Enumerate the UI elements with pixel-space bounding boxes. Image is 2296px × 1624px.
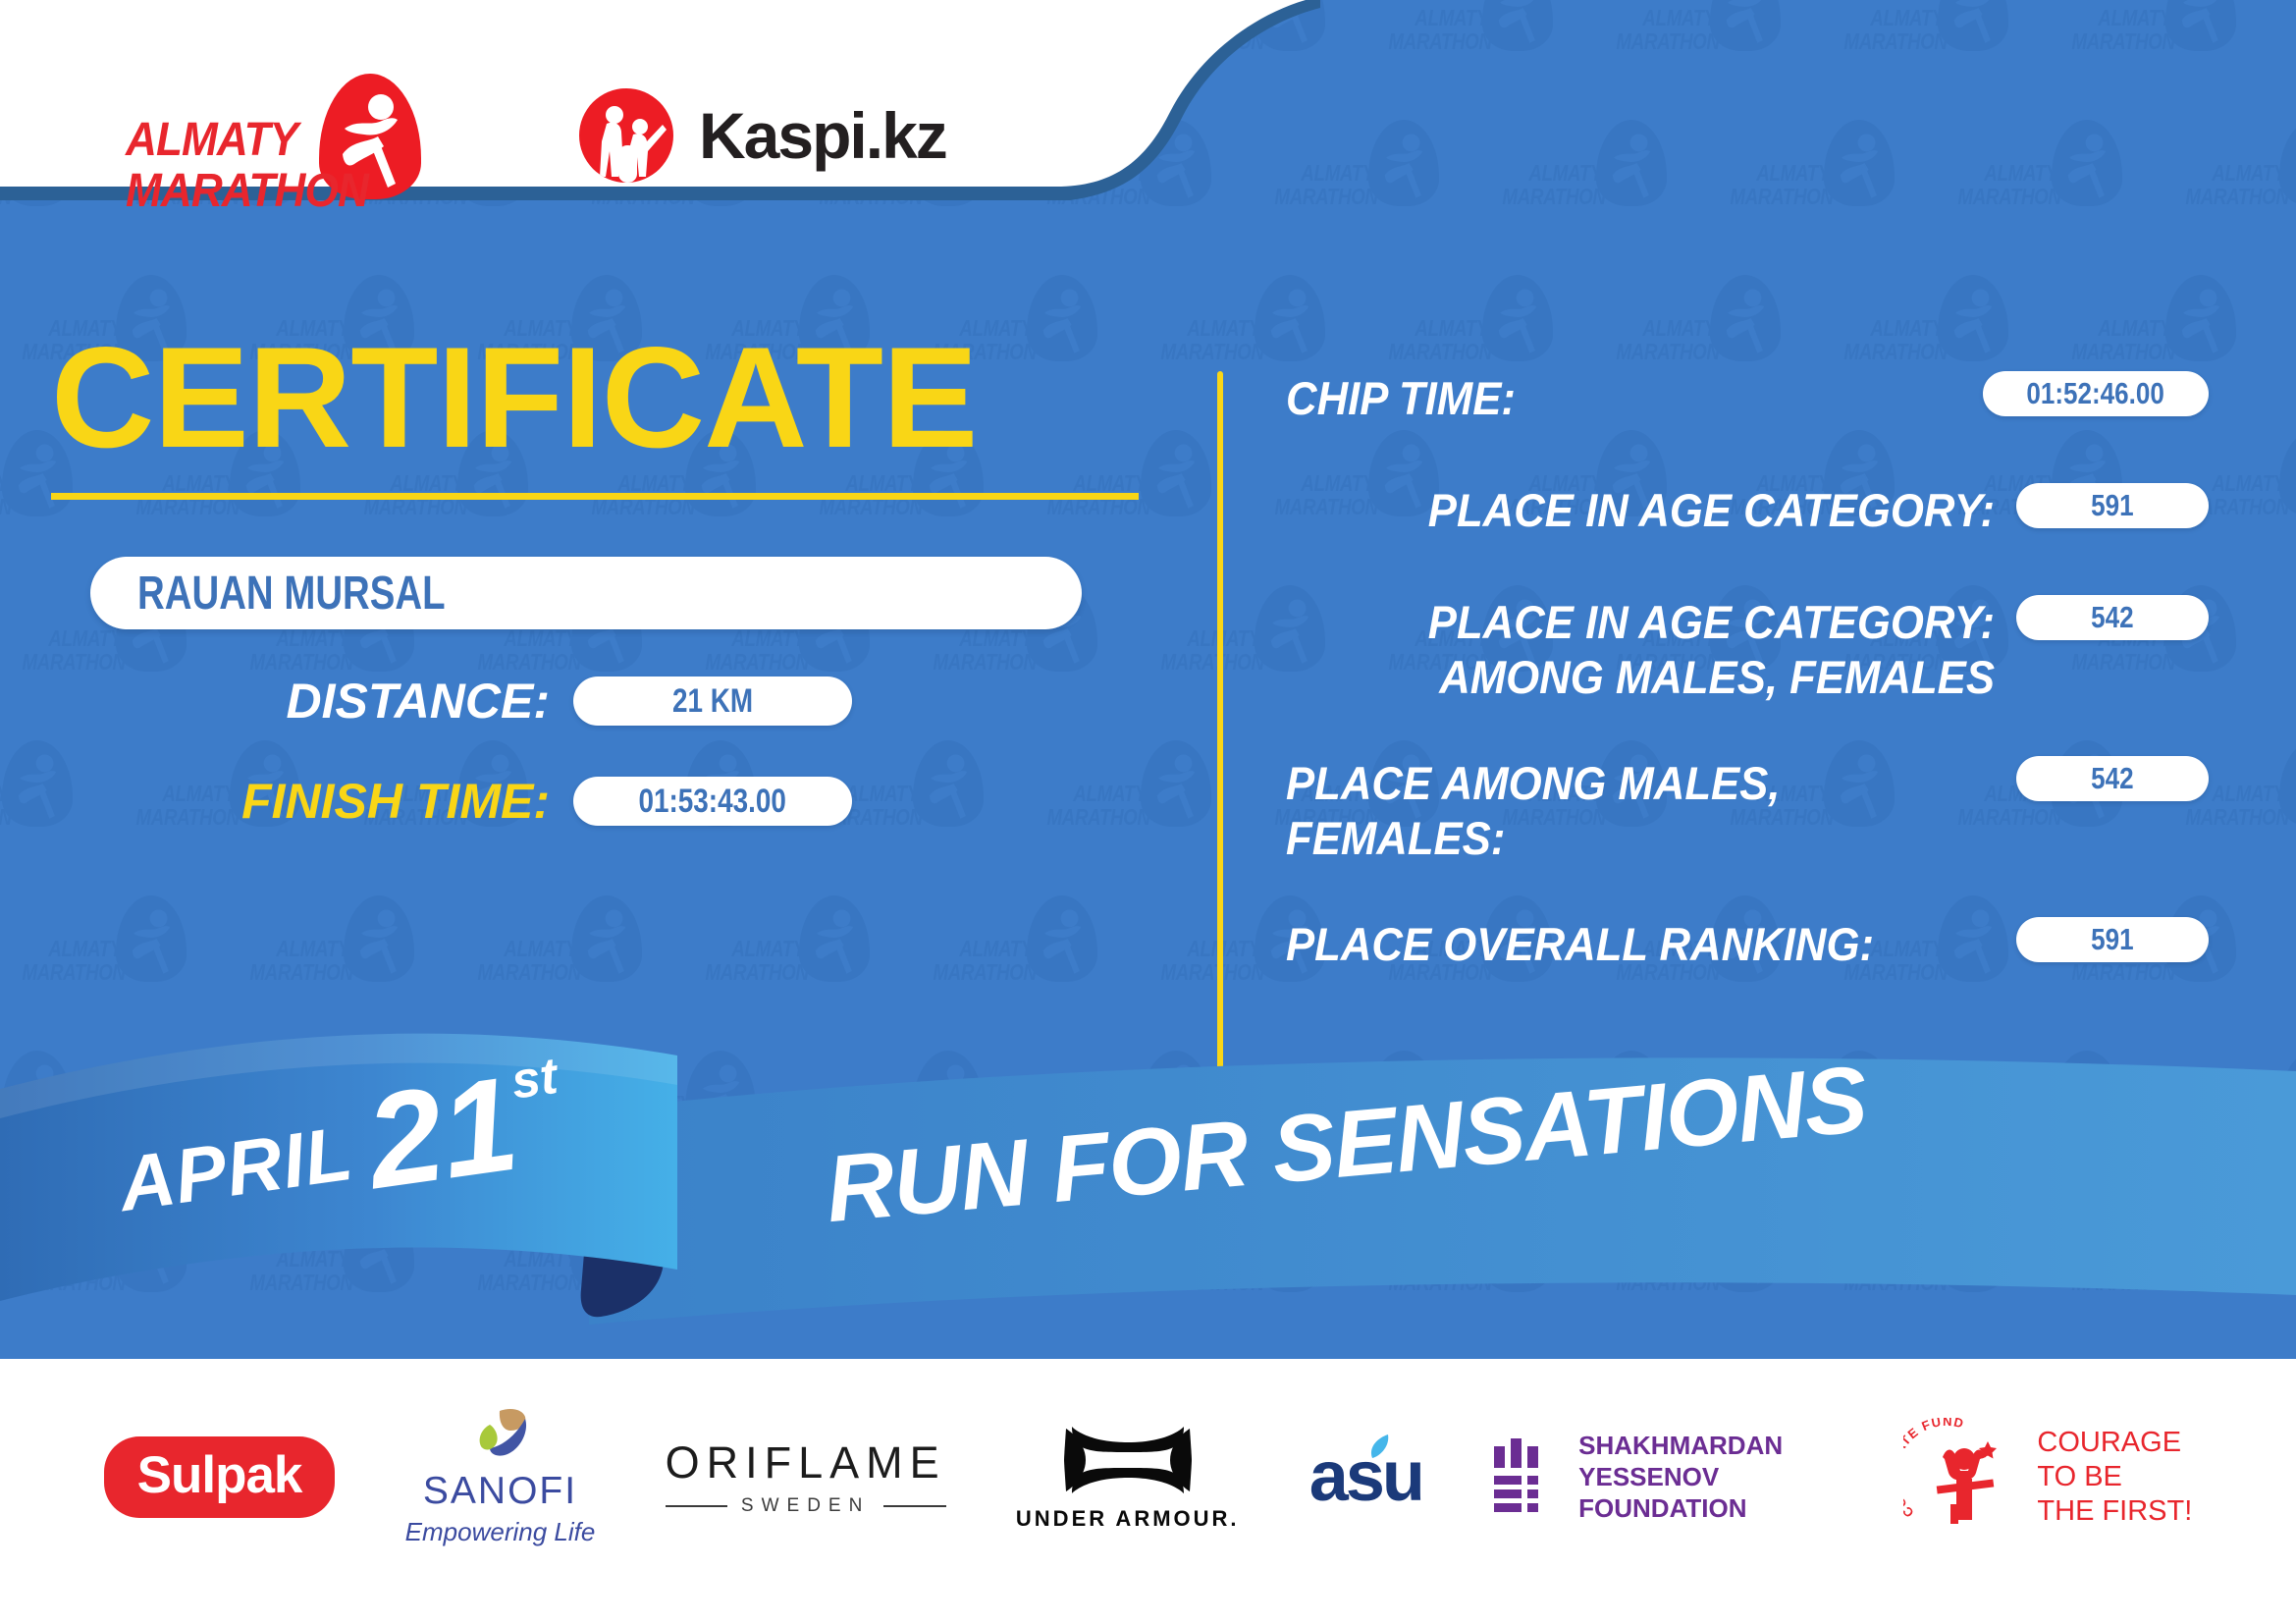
- watermark-text: ALMATYMARATHON: [2071, 1247, 2171, 1294]
- finish-time-row: FINISH TIME: 01:53:43.00: [0, 773, 1158, 830]
- sponsor-sulpak: Sulpak: [104, 1436, 336, 1518]
- watermark-tile: ALMATYMARATHON: [2050, 0, 2266, 108]
- watermark-droplet-icon: [1596, 1051, 1667, 1137]
- watermark-droplet-icon: [1824, 120, 1895, 206]
- watermark-droplet-icon: [571, 895, 642, 982]
- watermark-runner-icon: [1824, 1051, 1895, 1137]
- event-date: APRIL 21 st: [109, 1047, 570, 1237]
- watermark-line-2: MARATHON: [1730, 1115, 1830, 1139]
- watermark-tile: ALMATYMARATHON: [1253, 1047, 1468, 1194]
- watermark-line-2: MARATHON: [1730, 185, 1830, 208]
- watermark-runner-icon: [1482, 275, 1553, 361]
- result-value: 591: [2091, 922, 2133, 957]
- watermark-runner-icon: [1710, 1206, 1781, 1292]
- watermark-line-1: ALMATY: [933, 937, 1033, 960]
- watermark-text: ALMATYMARATHON: [2185, 1092, 2285, 1139]
- watermark-line-1: ALMATY: [1730, 1092, 1830, 1115]
- watermark-droplet-icon: [1027, 895, 1097, 982]
- watermark-runner-icon: [1368, 1051, 1439, 1137]
- watermark-line-2: MARATHON: [249, 960, 349, 984]
- watermark-line-2: MARATHON: [705, 960, 805, 984]
- shakhmardan-line-2: FOUNDATION: [1578, 1492, 1834, 1524]
- watermark-runner-icon: [2279, 740, 2296, 827]
- watermark-text: ALMATYMARATHON: [1388, 6, 1488, 53]
- watermark-line-1: ALMATY: [1046, 1092, 1147, 1115]
- almaty-line: ALMATY: [126, 115, 368, 166]
- watermark-droplet-icon: [2279, 430, 2296, 516]
- watermark-tile: ALMATYMARATHON: [0, 892, 216, 1039]
- watermark-tile: ALMATYMARATHON: [1708, 1047, 1924, 1194]
- watermark-line-1: ALMATY: [1843, 1247, 1944, 1271]
- courage-line-1: COURAGE: [2037, 1426, 2192, 1460]
- watermark-text: ALMATYMARATHON: [1843, 1247, 1944, 1294]
- watermark-line-1: ALMATY: [591, 1092, 691, 1115]
- watermark-runner-icon: [571, 895, 642, 982]
- watermark-line-1: ALMATY: [933, 1247, 1033, 1271]
- watermark-droplet-icon: [1368, 1051, 1439, 1137]
- result-label: PLACE IN AGE CATEGORY: AMONG MALES, FEMA…: [1336, 595, 1995, 705]
- watermark-droplet-icon: [1027, 1206, 1097, 1292]
- watermark-text: ALMATYMARATHON: [1730, 1092, 1830, 1139]
- result-value: 542: [2091, 761, 2133, 796]
- watermark-line-1: ALMATY: [2071, 1247, 2171, 1271]
- athlete-name-field: RAUAN MURSAL: [90, 557, 1082, 629]
- watermark-runner-icon: [1596, 1051, 1667, 1137]
- watermark-tile: ALMATYMARATHON: [1936, 116, 2152, 263]
- watermark-runner-icon: [913, 1051, 984, 1137]
- watermark-droplet-icon: [1824, 1051, 1895, 1137]
- watermark-tile: ALMATYMARATHON: [228, 892, 444, 1039]
- watermark-runner-icon: [1482, 1206, 1553, 1292]
- sulpak-wordmark: Sulpak: [104, 1436, 336, 1518]
- shakhmardan-glyph-icon: [1492, 1438, 1555, 1515]
- watermark-line-1: ALMATY: [1616, 1247, 1716, 1271]
- result-value: 542: [2091, 600, 2133, 635]
- result-value-pill: 01:52:46.00: [1983, 371, 2209, 416]
- watermark-droplet-icon: [457, 1051, 528, 1137]
- watermark-droplet-icon: [799, 1206, 870, 1292]
- watermark-line-2: MARATHON: [2185, 1115, 2285, 1139]
- watermark-text: ALMATYMARATHON: [1274, 1092, 1374, 1139]
- watermark-line-2: MARATHON: [2071, 1271, 2171, 1294]
- watermark-line-1: ALMATY: [477, 937, 577, 960]
- watermark-tile: ALMATYMARATHON: [2163, 1047, 2296, 1194]
- watermark-text: ALMATYMARATHON: [933, 937, 1033, 984]
- watermark-tile: ALMATYMARATHON: [455, 892, 671, 1039]
- watermark-line-1: ALMATY: [705, 1247, 805, 1271]
- result-row: PLACE OVERALL RANKING:591: [1286, 917, 2209, 978]
- watermark-text: ALMATYMARATHON: [933, 1247, 1033, 1294]
- distance-value-pill: 21 KM: [573, 677, 852, 726]
- watermark-runner-icon: [2279, 430, 2296, 516]
- watermark-line-2: MARATHON: [1160, 340, 1260, 363]
- watermark-line-1: ALMATY: [1730, 161, 1830, 185]
- watermark-droplet-icon: [2, 1051, 73, 1137]
- asu-leaf-icon: [1366, 1433, 1392, 1462]
- page-title: CERTIFICATE: [51, 324, 1158, 471]
- watermark-line-1: ALMATY: [705, 937, 805, 960]
- watermark-line-1: ALMATY: [819, 1092, 919, 1115]
- result-row: CHIP TIME:01:52:46.00: [1286, 371, 2209, 432]
- event-month: APRIL: [114, 1109, 358, 1229]
- watermark-line-2: MARATHON: [2071, 340, 2171, 363]
- watermark-tile: ALMATYMARATHON: [1822, 1202, 2038, 1349]
- watermark-line-1: ALMATY: [1160, 937, 1260, 960]
- watermark-droplet-icon: [2279, 120, 2296, 206]
- watermark-text: ALMATYMARATHON: [819, 1092, 919, 1139]
- shakhmardan-wrap: SHAKHMARDAN YESSENOV FOUNDATION: [1492, 1430, 1834, 1524]
- watermark-text: ALMATYMARATHON: [1502, 1092, 1602, 1139]
- watermark-text: ALMATYMARATHON: [1957, 161, 2057, 208]
- watermark-line-1: ALMATY: [22, 1247, 122, 1271]
- finish-time-value: 01:53:43.00: [639, 783, 786, 821]
- watermark-droplet-icon: [2052, 1051, 2122, 1137]
- watermark-text: ALMATYMARATHON: [1160, 1247, 1260, 1294]
- oriflame-sweden-label: SWEDEN: [741, 1495, 870, 1517]
- watermark-tile: ALMATYMARATHON: [1025, 1047, 1241, 1194]
- result-value: 01:52:46.00: [2027, 376, 2164, 411]
- result-value-pill: 591: [2016, 483, 2209, 528]
- watermark-line-1: ALMATY: [1616, 316, 1716, 340]
- watermark-line-2: MARATHON: [1160, 1271, 1260, 1294]
- watermark-runner-icon: [344, 895, 414, 982]
- watermark-droplet-icon: [1710, 275, 1781, 361]
- watermark-line-2: MARATHON: [819, 1115, 919, 1139]
- watermark-line-2: MARATHON: [1502, 185, 1602, 208]
- watermark-text: ALMATYMARATHON: [1388, 316, 1488, 363]
- watermark-line-1: ALMATY: [1388, 6, 1488, 29]
- sponsor-under-armour: UNDER ARMOUR.: [1016, 1423, 1240, 1532]
- watermark-text: ALMATYMARATHON: [249, 937, 349, 984]
- watermark-runner-icon: [2165, 0, 2236, 51]
- watermark-line-2: MARATHON: [0, 1115, 8, 1139]
- watermark-droplet-icon: [2165, 1206, 2236, 1292]
- watermark-runner-icon: [2165, 1206, 2236, 1292]
- watermark-line-2: MARATHON: [1274, 1115, 1374, 1139]
- sponsor-asu: asu: [1309, 1436, 1422, 1517]
- result-row: PLACE AMONG MALES, FEMALES:542: [1286, 756, 2209, 866]
- watermark-text: ALMATYMARATHON: [22, 937, 122, 984]
- distance-value: 21 KM: [672, 682, 753, 721]
- watermark-runner-icon: [1027, 895, 1097, 982]
- watermark-droplet-icon: [1938, 275, 2008, 361]
- watermark-line-2: MARATHON: [1843, 340, 1944, 363]
- watermark-runner-icon: [685, 1051, 756, 1137]
- watermark-runner-icon: [457, 1051, 528, 1137]
- watermark-line-1: ALMATY: [1388, 1247, 1488, 1271]
- watermark-runner-icon: [1710, 275, 1781, 361]
- watermark-line-1: ALMATY: [1160, 316, 1260, 340]
- event-day-suffix: st: [507, 1047, 561, 1111]
- watermark-text: ALMATYMARATHON: [1730, 161, 1830, 208]
- watermark-line-1: ALMATY: [0, 1092, 8, 1115]
- watermark-runner-icon: [230, 1051, 300, 1137]
- watermark-runner-icon: [571, 1206, 642, 1292]
- result-label: PLACE OVERALL RANKING:: [1286, 917, 1945, 972]
- watermark-runner-icon: [2052, 1051, 2122, 1137]
- watermark-runner-icon: [344, 1206, 414, 1292]
- watermark-runner-icon: [1255, 1206, 1325, 1292]
- sponsor-courage-to-be-the-first: CORPORATE FUND COURAGE TO BE THE FIRST!: [1903, 1418, 2192, 1536]
- watermark-runner-icon: [1938, 0, 2008, 51]
- watermark-line-1: ALMATY: [2071, 6, 2171, 29]
- watermark-line-2: MARATHON: [705, 1271, 805, 1294]
- corporate-fund-emblem: CORPORATE FUND: [1903, 1418, 2021, 1536]
- watermark-line-1: ALMATY: [1616, 6, 1716, 29]
- watermark-tile: ALMATYMARATHON: [1822, 0, 2038, 108]
- watermark-line-1: ALMATY: [1502, 1092, 1602, 1115]
- watermark-line-2: MARATHON: [933, 1271, 1033, 1294]
- watermark-tile: ALMATYMARATHON: [2277, 1202, 2296, 1349]
- watermark-line-2: MARATHON: [22, 1271, 122, 1294]
- sponsor-bar: Sulpak SANOFI Empowering Life ORIFLAME S…: [0, 1359, 2296, 1624]
- watermark-runner-icon: [2165, 275, 2236, 361]
- event-ribbon: APRIL 21 st RUN FOR SENSATIONS: [0, 1001, 2296, 1325]
- watermark-droplet-icon: [1141, 1051, 1211, 1137]
- sponsor-oriflame: ORIFLAME SWEDEN: [666, 1437, 946, 1517]
- watermark-line-2: MARATHON: [2071, 29, 2171, 53]
- watermark-text: ALMATYMARATHON: [363, 1092, 463, 1139]
- watermark-text: ALMATYMARATHON: [1616, 1247, 1716, 1294]
- watermark-runner-icon: [1368, 120, 1439, 206]
- sanofi-mark-icon: [470, 1407, 531, 1462]
- watermark-tile: ALMATYMARATHON: [2277, 271, 2296, 418]
- left-column: CERTIFICATE RAUAN MURSAL DISTANCE: 21 KM…: [0, 324, 1158, 830]
- kaspi-people-icon: [579, 88, 673, 183]
- watermark-runner-icon: [116, 895, 187, 982]
- watermark-line-1: ALMATY: [1957, 161, 2057, 185]
- watermark-tile: ALMATYMARATHON: [797, 1047, 1013, 1194]
- sponsor-shakhmardan-yessenov: SHAKHMARDAN YESSENOV FOUNDATION: [1492, 1430, 1834, 1524]
- watermark-text: ALMATYMARATHON: [1046, 1092, 1147, 1139]
- watermark-runner-icon: [2, 1051, 73, 1137]
- watermark-tile: ALMATYMARATHON: [683, 1202, 899, 1349]
- watermark-droplet-icon: [799, 895, 870, 982]
- watermark-text: ALMATYMARATHON: [1160, 316, 1260, 363]
- oriflame-wordmark: ORIFLAME: [666, 1437, 946, 1489]
- watermark-line-2: MARATHON: [2185, 185, 2285, 208]
- watermark-tile: ALMATYMARATHON: [2277, 892, 2296, 1039]
- watermark-droplet-icon: [1482, 275, 1553, 361]
- result-value-pill: 542: [2016, 756, 2209, 801]
- watermark-tile: ALMATYMARATHON: [0, 1047, 102, 1194]
- watermark-tile: ALMATYMARATHON: [1594, 1202, 1810, 1349]
- event-day: 21: [360, 1062, 524, 1202]
- shakhmardan-bars-icon: [1492, 1438, 1555, 1515]
- watermark-line-2: MARATHON: [477, 1271, 577, 1294]
- watermark-droplet-icon: [1482, 1206, 1553, 1292]
- watermark-runner-icon: [1027, 1206, 1097, 1292]
- watermark-line-1: ALMATY: [363, 1092, 463, 1115]
- watermark-runner-icon: [1482, 0, 1553, 51]
- watermark-line-1: ALMATY: [1502, 161, 1602, 185]
- almaty-marathon-logo: ALMATY MARATHON: [108, 64, 442, 221]
- watermark-line-2: MARATHON: [1160, 960, 1260, 984]
- watermark-droplet-icon: [1938, 0, 2008, 51]
- watermark-text: ALMATYMARATHON: [22, 1247, 122, 1294]
- watermark-droplet-icon: [1938, 1206, 2008, 1292]
- watermark-runner-icon: [116, 1206, 187, 1292]
- watermark-droplet-icon: [685, 1051, 756, 1137]
- event-slogan: RUN FOR SENSATIONS: [822, 1046, 1870, 1244]
- watermark-line-2: MARATHON: [22, 960, 122, 984]
- watermark-line-1: ALMATY: [1843, 6, 1944, 29]
- watermark-droplet-icon: [2165, 0, 2236, 51]
- title-underline: [51, 493, 1139, 500]
- watermark-droplet-icon: [2279, 1051, 2296, 1137]
- distance-label: DISTANCE:: [0, 673, 550, 730]
- watermark-droplet-icon: [1255, 1206, 1325, 1292]
- watermark-droplet-icon: [344, 895, 414, 982]
- watermark-tile: ALMATYMARATHON: [0, 1202, 216, 1349]
- watermark-tile: ALMATYMARATHON: [2050, 1202, 2266, 1349]
- watermark-line-2: MARATHON: [1957, 1115, 2057, 1139]
- watermark-text: ALMATYMARATHON: [477, 937, 577, 984]
- watermark-tile: ALMATYMARATHON: [911, 892, 1127, 1039]
- watermark-line-2: MARATHON: [1616, 29, 1716, 53]
- watermark-tile: ALMATYMARATHON: [1480, 116, 1696, 263]
- watermark-text: ALMATYMARATHON: [705, 937, 805, 984]
- watermark-line-2: MARATHON: [363, 1115, 463, 1139]
- watermark-line-1: ALMATY: [135, 1092, 236, 1115]
- result-value: 591: [2091, 488, 2133, 523]
- watermark-tile: ALMATYMARATHON: [1708, 116, 1924, 263]
- watermark-line-1: ALMATY: [1160, 626, 1260, 650]
- watermark-runner-icon: [799, 1206, 870, 1292]
- watermark-text: ALMATYMARATHON: [591, 1092, 691, 1139]
- watermark-droplet-icon: [1710, 1206, 1781, 1292]
- watermark-text: ALMATYMARATHON: [1616, 316, 1716, 363]
- watermark-line-2: MARATHON: [591, 1115, 691, 1139]
- watermark-tile: ALMATYMARATHON: [1366, 0, 1582, 108]
- ribbon-shape: [0, 1001, 2296, 1325]
- result-value-pill: 591: [2016, 917, 2209, 962]
- watermark-line-1: ALMATY: [1843, 316, 1944, 340]
- watermark-text: ALMATYMARATHON: [249, 1247, 349, 1294]
- watermark-droplet-icon: [1596, 120, 1667, 206]
- watermark-tile: ALMATYMARATHON: [455, 1202, 671, 1349]
- watermark-droplet-icon: [913, 1051, 984, 1137]
- courage-line-3: THE FIRST!: [2037, 1494, 2192, 1529]
- watermark-line-1: ALMATY: [2185, 1092, 2285, 1115]
- result-row: PLACE IN AGE CATEGORY: AMONG MALES, FEMA…: [1286, 595, 2209, 705]
- watermark-droplet-icon: [2165, 275, 2236, 361]
- watermark-text: ALMATYMARATHON: [0, 1092, 8, 1139]
- kaspi-circle-icon: [579, 88, 673, 183]
- certificate-canvas: ALMATYMARATHONALMATYMARATHONALMATYMARATH…: [0, 0, 2296, 1624]
- watermark-tile: ALMATYMARATHON: [683, 892, 899, 1039]
- watermark-runner-icon: [2279, 1051, 2296, 1137]
- results-column: CHIP TIME:01:52:46.00PLACE IN AGE CATEGO…: [1286, 371, 2209, 1029]
- watermark-tile: ALMATYMARATHON: [114, 1047, 330, 1194]
- result-label: PLACE IN AGE CATEGORY:: [1336, 483, 1995, 538]
- watermark-tile: ALMATYMARATHON: [2277, 0, 2296, 108]
- almaty-marathon-wordmark: ALMATY MARATHON: [126, 115, 368, 217]
- watermark-line-1: ALMATY: [22, 937, 122, 960]
- watermark-text: ALMATYMARATHON: [2185, 161, 2285, 208]
- watermark-line-2: MARATHON: [1046, 1115, 1147, 1139]
- watermark-runner-icon: [1938, 275, 2008, 361]
- watermark-droplet-icon: [116, 1206, 187, 1292]
- watermark-text: ALMATYMARATHON: [2071, 316, 2171, 363]
- kaspi-wordmark: Kaspi.kz: [699, 98, 946, 173]
- watermark-runner-icon: [799, 895, 870, 982]
- watermark-line-2: MARATHON: [1160, 650, 1260, 674]
- distance-row: DISTANCE: 21 KM: [0, 673, 1158, 730]
- vertical-divider: [1217, 371, 1223, 1103]
- oriflame-rule-right: [883, 1505, 945, 1507]
- watermark-line-1: ALMATY: [249, 1247, 349, 1271]
- watermark-tile: ALMATYMARATHON: [2277, 581, 2296, 729]
- watermark-text: ALMATYMARATHON: [1843, 6, 1944, 53]
- watermark-line-1: ALMATY: [249, 937, 349, 960]
- watermark-text: ALMATYMARATHON: [1843, 316, 1944, 363]
- watermark-tile: ALMATYMARATHON: [342, 1047, 558, 1194]
- watermark-droplet-icon: [571, 1206, 642, 1292]
- watermark-line-1: ALMATY: [1388, 316, 1488, 340]
- watermark-tile: ALMATYMARATHON: [1936, 1047, 2152, 1194]
- watermark-line-1: ALMATY: [2071, 316, 2171, 340]
- watermark-droplet-icon: [344, 1206, 414, 1292]
- watermark-line-2: MARATHON: [1843, 29, 1944, 53]
- watermark-text: ALMATYMARATHON: [705, 1247, 805, 1294]
- watermark-line-1: ALMATY: [1160, 1247, 1260, 1271]
- watermark-text: ALMATYMARATHON: [477, 1247, 577, 1294]
- watermark-line-2: MARATHON: [135, 1115, 236, 1139]
- result-row: PLACE IN AGE CATEGORY:591: [1286, 483, 2209, 544]
- watermark-droplet-icon: [1482, 0, 1553, 51]
- watermark-line-2: MARATHON: [249, 1271, 349, 1294]
- watermark-line-1: ALMATY: [477, 1247, 577, 1271]
- watermark-line-1: ALMATY: [1274, 1092, 1374, 1115]
- athlete-name-value: RAUAN MURSAL: [137, 567, 446, 621]
- watermark-tile: ALMATYMARATHON: [228, 1202, 444, 1349]
- sanofi-tagline: Empowering Life: [405, 1517, 596, 1547]
- watermark-text: ALMATYMARATHON: [1502, 161, 1602, 208]
- result-label: PLACE AMONG MALES, FEMALES:: [1286, 756, 1945, 866]
- watermark-text: ALMATYMARATHON: [1957, 1092, 2057, 1139]
- courage-line-2: TO BE: [2037, 1460, 2192, 1494]
- watermark-line-2: MARATHON: [1502, 1115, 1602, 1139]
- oriflame-rule-left: [666, 1505, 727, 1507]
- watermark-line-1: ALMATY: [1957, 1092, 2057, 1115]
- watermark-line-2: MARATHON: [1957, 185, 2057, 208]
- watermark-text: ALMATYMARATHON: [2071, 6, 2171, 53]
- watermark-text: ALMATYMARATHON: [1160, 626, 1260, 674]
- watermark-text: ALMATYMARATHON: [1160, 937, 1260, 984]
- watermark-text: ALMATYMARATHON: [135, 1092, 236, 1139]
- watermark-line-2: MARATHON: [1843, 1271, 1944, 1294]
- corporate-fund-icon: CORPORATE FUND: [1903, 1418, 2021, 1536]
- courage-wrap: CORPORATE FUND COURAGE TO BE THE FIRST!: [1903, 1418, 2192, 1536]
- courage-wordmark: COURAGE TO BE THE FIRST!: [2037, 1426, 2192, 1529]
- watermark-text: ALMATYMARATHON: [1616, 6, 1716, 53]
- watermark-tile: ALMATYMARATHON: [569, 1047, 785, 1194]
- watermark-tile: ALMATYMARATHON: [911, 1202, 1127, 1349]
- marathon-line: MARATHON: [126, 166, 368, 217]
- finish-time-value-pill: 01:53:43.00: [573, 777, 852, 826]
- watermark-runner-icon: [2052, 120, 2122, 206]
- kaspi-logo: Kaspi.kz: [579, 88, 946, 183]
- watermark-line-2: MARATHON: [1388, 1271, 1488, 1294]
- watermark-tile: ALMATYMARATHON: [1480, 1047, 1696, 1194]
- result-value-pill: 542: [2016, 595, 2209, 640]
- watermark-runner-icon: [1141, 1051, 1211, 1137]
- watermark-droplet-icon: [1710, 0, 1781, 51]
- sanofi-wordmark: SANOFI: [423, 1470, 577, 1513]
- oriflame-subline: SWEDEN: [666, 1495, 946, 1517]
- watermark-tile: ALMATYMARATHON: [1594, 0, 1810, 108]
